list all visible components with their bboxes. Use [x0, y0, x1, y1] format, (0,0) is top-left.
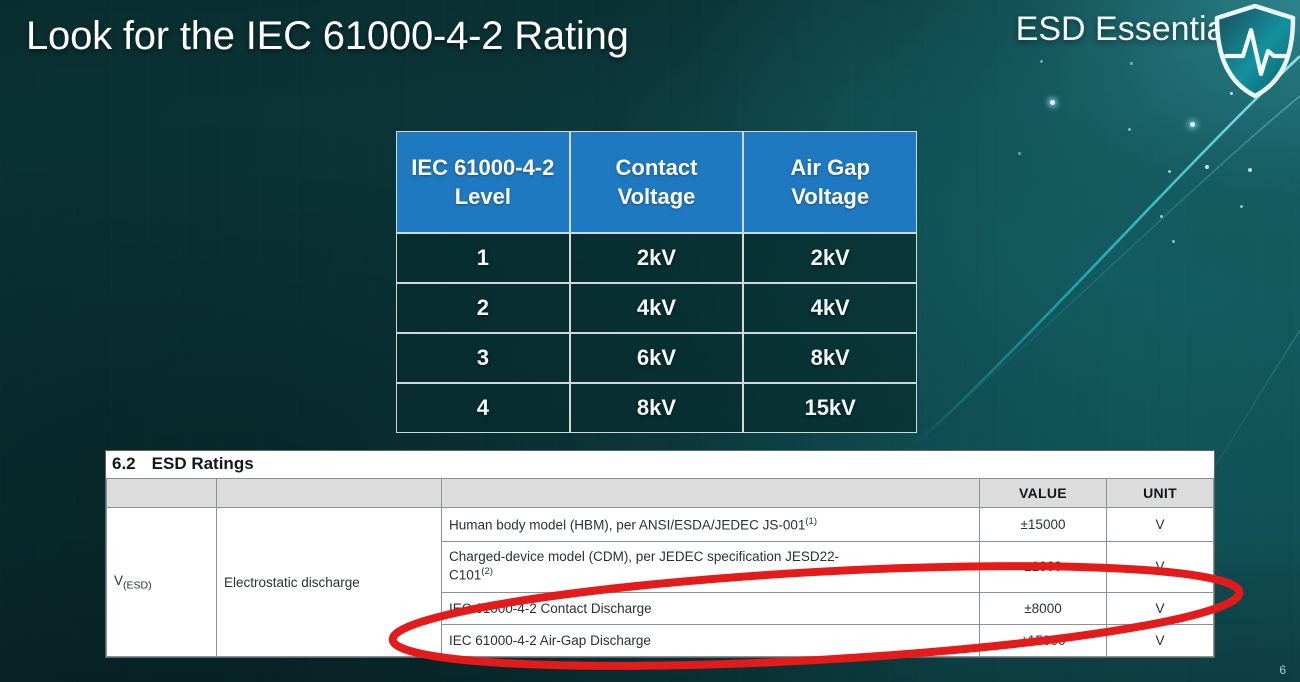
- datasheet-excerpt: 6.2ESD Ratings VALUE UNIT V(ESD) Electro…: [105, 450, 1215, 658]
- cell-value: ±15000: [980, 625, 1107, 657]
- column-header-contact-voltage: Contact Voltage: [570, 131, 744, 233]
- cell-level: 2: [396, 283, 570, 333]
- cell-value: ±15000: [980, 508, 1107, 542]
- brand-lockup: ESD Essentials: [1016, 10, 1250, 49]
- table-row: 3 6kV 8kV: [396, 333, 917, 383]
- column-header-air-gap-voltage: Air Gap Voltage: [743, 131, 917, 233]
- cell-air-gap-voltage: 8kV: [743, 333, 917, 383]
- table-header-row: VALUE UNIT: [107, 479, 1214, 508]
- cell-parameter: Electrostatic discharge: [217, 508, 442, 657]
- cell-contact-voltage: 2kV: [570, 233, 744, 283]
- datasheet-section-heading: 6.2ESD Ratings: [106, 451, 1214, 478]
- column-header-unit: UNIT: [1107, 479, 1214, 508]
- column-header-level: IEC 61000-4-2 Level: [396, 131, 570, 233]
- iec-level-table: IEC 61000-4-2 Level Contact Voltage Air …: [396, 131, 917, 433]
- header-description-blank: [442, 479, 980, 508]
- cell-unit: V: [1107, 593, 1214, 625]
- table-row: 2 4kV 4kV: [396, 283, 917, 333]
- cell-contact-voltage: 4kV: [570, 283, 744, 333]
- header-parameter-blank: [217, 479, 442, 508]
- cell-contact-voltage: 6kV: [570, 333, 744, 383]
- cell-description: Human body model (HBM), per ANSI/ESDA/JE…: [442, 508, 980, 542]
- cell-symbol: V(ESD): [107, 508, 217, 657]
- section-title: ESD Ratings: [152, 454, 254, 473]
- table-row: 4 8kV 15kV: [396, 383, 917, 433]
- footnote-marker: (1): [805, 516, 817, 527]
- cell-description: Charged-device model (CDM), per JEDEC sp…: [442, 542, 980, 593]
- cell-level: 1: [396, 233, 570, 283]
- column-header-value: VALUE: [980, 479, 1107, 508]
- cell-description: IEC 61000-4-2 Contact Discharge: [442, 593, 980, 625]
- cell-air-gap-voltage: 4kV: [743, 283, 917, 333]
- cell-air-gap-voltage: 15kV: [743, 383, 917, 433]
- cell-value: ±1000: [980, 542, 1107, 593]
- cell-air-gap-voltage: 2kV: [743, 233, 917, 283]
- cell-unit: V: [1107, 625, 1214, 657]
- esd-ratings-table: VALUE UNIT V(ESD) Electrostatic discharg…: [106, 478, 1214, 657]
- slide-canvas: Look for the IEC 61000-4-2 Rating ESD Es…: [0, 0, 1300, 682]
- page-title: Look for the IEC 61000-4-2 Rating: [26, 14, 629, 59]
- cell-description: IEC 61000-4-2 Air-Gap Discharge: [442, 625, 980, 657]
- table-header-row: IEC 61000-4-2 Level Contact Voltage Air …: [396, 131, 917, 233]
- cell-level: 3: [396, 333, 570, 383]
- cell-level: 4: [396, 383, 570, 433]
- symbol-subscript: (ESD): [123, 579, 152, 591]
- page-number: 6: [1279, 663, 1286, 677]
- shield-pulse-icon: [1212, 4, 1298, 100]
- cell-unit: V: [1107, 542, 1214, 593]
- section-number: 6.2: [112, 454, 136, 473]
- cell-contact-voltage: 8kV: [570, 383, 744, 433]
- header-symbol-blank: [107, 479, 217, 508]
- cell-value: ±8000: [980, 593, 1107, 625]
- cell-unit: V: [1107, 508, 1214, 542]
- footnote-marker: (2): [481, 566, 493, 577]
- table-row: V(ESD) Electrostatic discharge Human bod…: [107, 508, 1214, 542]
- table-row: 1 2kV 2kV: [396, 233, 917, 283]
